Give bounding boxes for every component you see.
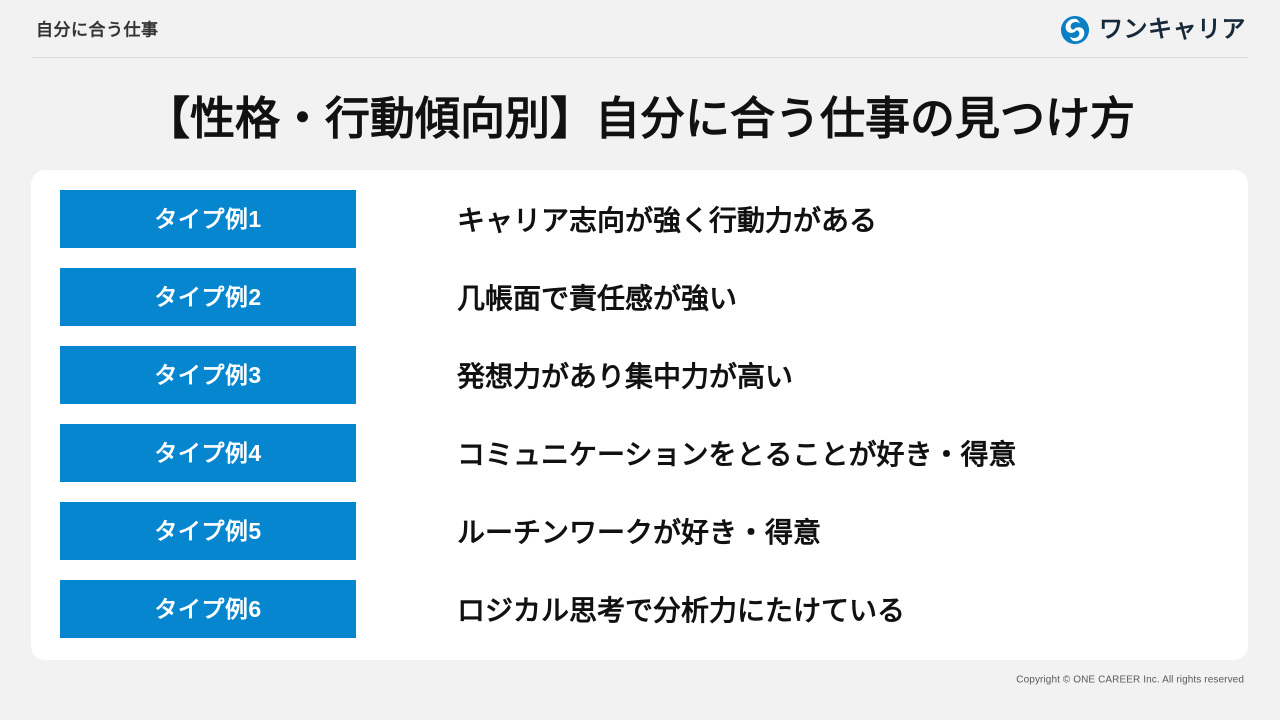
type-description-6: ロジカル思考で分析力にたけている bbox=[457, 580, 905, 638]
type-chip-1: タイプ例1 bbox=[60, 190, 356, 248]
type-description-5: ルーチンワークが好き・得意 bbox=[457, 502, 821, 560]
brand-name: ワンキャリア bbox=[1099, 18, 1246, 42]
type-description-1: キャリア志向が強く行動力がある bbox=[457, 190, 877, 248]
slide-header: 自分に合う仕事 ワンキャリア bbox=[0, 0, 1280, 58]
header-title: 自分に合う仕事 bbox=[36, 16, 159, 41]
type-description-3: 発想力があり集中力が高い bbox=[457, 346, 793, 404]
content-card: タイプ例1 キャリア志向が強く行動力がある タイプ例2 几帳面で責任感が強い タ… bbox=[31, 170, 1248, 660]
type-chip-label: タイプ例4 bbox=[154, 442, 261, 465]
type-chip-2: タイプ例2 bbox=[60, 268, 356, 326]
type-description-2: 几帳面で責任感が強い bbox=[457, 268, 737, 326]
type-description-4: コミュニケーションをとることが好き・得意 bbox=[457, 424, 1016, 482]
type-chip-label: タイプ例1 bbox=[154, 208, 261, 231]
type-chip-label: タイプ例2 bbox=[154, 286, 261, 309]
type-chip-4: タイプ例4 bbox=[60, 424, 356, 482]
list-item: タイプ例3 発想力があり集中力が高い bbox=[31, 346, 1248, 404]
swirl-logo-icon bbox=[1060, 15, 1090, 45]
type-chip-6: タイプ例6 bbox=[60, 580, 356, 638]
type-chip-label: タイプ例5 bbox=[154, 520, 261, 543]
list-item: タイプ例6 ロジカル思考で分析力にたけている bbox=[31, 580, 1248, 638]
type-chip-5: タイプ例5 bbox=[60, 502, 356, 560]
type-chip-label: タイプ例3 bbox=[154, 364, 261, 387]
list-item: タイプ例4 コミュニケーションをとることが好き・得意 bbox=[31, 424, 1248, 482]
slide-title: 【性格・行動傾向別】自分に合う仕事の見つけ方 bbox=[0, 82, 1280, 147]
header-divider bbox=[32, 57, 1248, 58]
copyright-notice: Copyright © ONE CAREER Inc. All rights r… bbox=[1016, 675, 1244, 686]
type-chip-3: タイプ例3 bbox=[60, 346, 356, 404]
list-item: タイプ例1 キャリア志向が強く行動力がある bbox=[31, 190, 1248, 248]
type-list: タイプ例1 キャリア志向が強く行動力がある タイプ例2 几帳面で責任感が強い タ… bbox=[31, 170, 1248, 660]
list-item: タイプ例2 几帳面で責任感が強い bbox=[31, 268, 1248, 326]
type-chip-label: タイプ例6 bbox=[154, 598, 261, 621]
brand-logo: ワンキャリア bbox=[1060, 15, 1246, 45]
list-item: タイプ例5 ルーチンワークが好き・得意 bbox=[31, 502, 1248, 560]
